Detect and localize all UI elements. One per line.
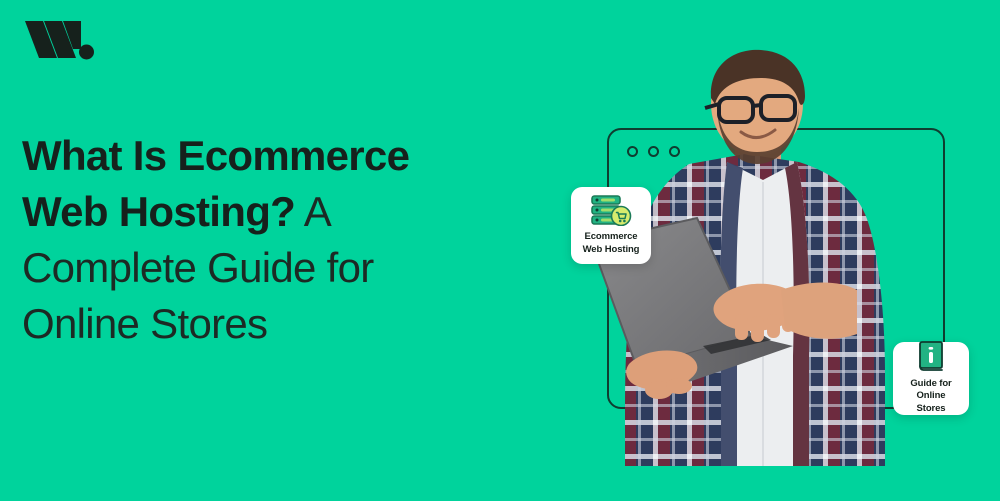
badge-label: Guide for Online Stores [901,378,961,416]
badge-guide-for-online-stores[interactable]: Guide for Online Stores [893,342,969,415]
hero-banner: What Is Ecommerce Web Hosting? A Complet… [0,0,1000,501]
badge-label: Ecommerce Web Hosting [583,231,640,256]
brand-logo[interactable] [22,18,98,64]
badge-ecommerce-web-hosting[interactable]: Ecommerce Web Hosting [571,187,651,264]
headline-strong: What Is Ecommerce Web Hosting? [22,132,409,235]
server-stack-cart-icon [590,194,632,226]
page-title: What Is Ecommerce Web Hosting? A Complet… [22,128,492,352]
info-book-icon [916,341,946,373]
